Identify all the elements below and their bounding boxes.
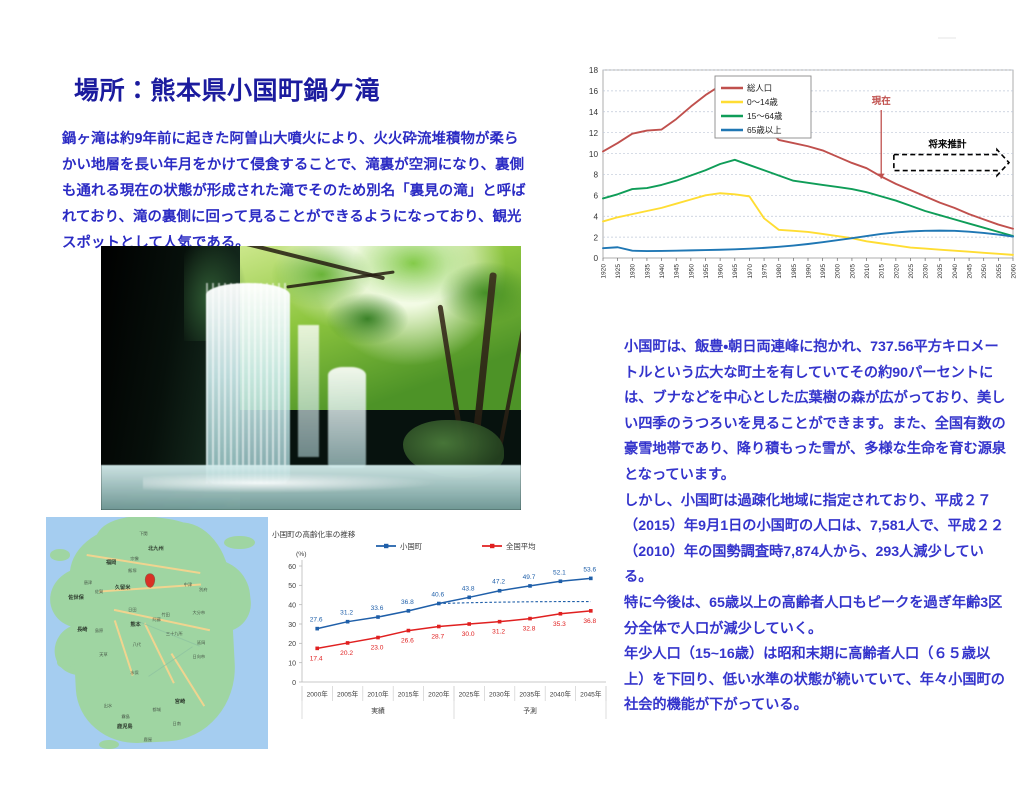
svg-text:2050: 2050 xyxy=(981,264,988,279)
svg-text:0: 0 xyxy=(593,254,598,263)
map-place-label: 天草 xyxy=(99,652,107,658)
svg-text:2020年: 2020年 xyxy=(428,690,450,699)
svg-text:2005年: 2005年 xyxy=(337,690,359,699)
svg-text:20.2: 20.2 xyxy=(340,650,353,657)
svg-text:1925: 1925 xyxy=(615,264,622,279)
svg-text:1990: 1990 xyxy=(805,264,812,279)
map-place-label: 久留米 xyxy=(115,584,131,591)
svg-text:1930: 1930 xyxy=(630,264,637,279)
svg-text:1995: 1995 xyxy=(820,264,827,279)
svg-text:40: 40 xyxy=(288,602,296,609)
aging-chart: 0102030405060(%)2000年2005年2010年2015年2020… xyxy=(268,524,614,740)
svg-text:31.2: 31.2 xyxy=(340,610,353,617)
svg-text:4: 4 xyxy=(593,212,598,221)
photo-waterfall-secondary xyxy=(328,367,366,467)
map-place-label: 日田 xyxy=(128,607,136,613)
population-chart: 0246810121416181920192519301935194019451… xyxy=(575,62,1018,310)
page-title: 場所：熊本県小国町鍋ケ滝 xyxy=(74,71,380,107)
intro-paragraph: 鍋ヶ滝は約9年前に起きた阿曽山大噴火により、火火砕流堆積物が柔らかい地層を長い年… xyxy=(62,126,532,256)
svg-text:12: 12 xyxy=(589,129,599,138)
map-place-label: 飯塚 xyxy=(128,568,136,574)
svg-text:2060: 2060 xyxy=(1010,264,1017,279)
svg-text:1975: 1975 xyxy=(761,264,768,279)
map-place-label: 北九州 xyxy=(148,545,164,552)
map-island xyxy=(50,549,70,561)
svg-text:2005: 2005 xyxy=(849,264,856,279)
svg-text:6: 6 xyxy=(593,192,598,201)
svg-text:現在: 現在 xyxy=(872,95,892,107)
svg-text:50: 50 xyxy=(288,583,296,590)
svg-text:2000年: 2000年 xyxy=(307,690,329,699)
svg-text:15〜64歳: 15〜64歳 xyxy=(747,111,783,121)
svg-text:52.1: 52.1 xyxy=(553,569,566,576)
svg-text:27.6: 27.6 xyxy=(310,617,323,624)
map-place-label: 中津 xyxy=(184,582,192,588)
svg-text:2025年: 2025年 xyxy=(459,690,481,699)
map-place-label: 下関 xyxy=(139,531,147,537)
map-place-label: 日南 xyxy=(173,721,181,727)
map-place-label: 長崎 xyxy=(77,626,87,633)
svg-text:35.3: 35.3 xyxy=(553,621,566,628)
svg-text:49.7: 49.7 xyxy=(523,574,536,581)
map-place-label: 出水 xyxy=(104,703,112,709)
map-place-label: 水俣 xyxy=(130,670,138,676)
svg-text:23.0: 23.0 xyxy=(371,645,384,652)
svg-text:2035年: 2035年 xyxy=(519,690,541,699)
svg-text:1980: 1980 xyxy=(776,264,783,279)
map-place-label: 熊本 xyxy=(130,621,140,628)
svg-text:18: 18 xyxy=(589,66,599,75)
svg-text:28.7: 28.7 xyxy=(431,634,444,641)
map-island xyxy=(99,740,119,749)
svg-text:1950: 1950 xyxy=(688,264,695,279)
map-island xyxy=(224,536,255,550)
svg-text:2035: 2035 xyxy=(937,264,944,279)
svg-text:2015: 2015 xyxy=(879,264,886,279)
svg-text:(%): (%) xyxy=(296,551,307,558)
svg-text:53.6: 53.6 xyxy=(583,566,596,573)
waterfall-photo xyxy=(101,246,521,510)
kyushu-map[interactable]: 北九州下関福岡宗像飯塚久留米佐世保唐津佐賀中津別府大分市日田竹田熊本長崎島原阿蘇… xyxy=(46,517,268,749)
region-paragraph: 特に今後は、65歳以上の高齢者人口もピークを過ぎ年齢3区分全体で人口が減少してい… xyxy=(624,591,1010,642)
svg-text:2055: 2055 xyxy=(996,264,1003,279)
svg-text:2025: 2025 xyxy=(908,264,915,279)
map-place-label: 佐賀 xyxy=(95,589,103,595)
svg-text:2040年: 2040年 xyxy=(550,690,572,699)
svg-text:1955: 1955 xyxy=(703,264,710,279)
svg-text:将来推計: 将来推計 xyxy=(927,139,967,151)
photo-waterfall-main xyxy=(206,283,290,484)
svg-text:33.6: 33.6 xyxy=(371,605,384,612)
svg-text:2015年: 2015年 xyxy=(398,690,420,699)
map-place-label: 島原 xyxy=(95,628,103,634)
svg-text:予測: 予測 xyxy=(523,706,537,715)
svg-text:2030: 2030 xyxy=(923,264,930,279)
map-place-label: 鹿屋 xyxy=(144,737,152,743)
svg-text:14: 14 xyxy=(589,108,599,117)
region-paragraph: しかし、小国町は過疎化地域に指定されており、平成２７（2015）年9月1日の小国… xyxy=(624,489,1010,591)
svg-text:1935: 1935 xyxy=(644,264,651,279)
map-place-label: 別府 xyxy=(199,587,207,593)
map-place-label: 阿蘇 xyxy=(153,617,161,623)
svg-text:実績: 実績 xyxy=(371,706,385,715)
svg-text:47.2: 47.2 xyxy=(492,579,505,586)
svg-text:総人口: 総人口 xyxy=(747,83,772,93)
map-place-label: 大分市 xyxy=(193,610,206,616)
svg-text:1960: 1960 xyxy=(718,264,725,279)
svg-text:10: 10 xyxy=(288,660,296,667)
svg-text:2030年: 2030年 xyxy=(489,690,511,699)
svg-text:2000: 2000 xyxy=(835,264,842,279)
region-paragraph: 小国町は、飯豊・朝日両連峰に抱かれ、737.56平方キロメートルという広大な町土… xyxy=(624,335,1010,489)
svg-text:17.4: 17.4 xyxy=(310,655,323,662)
svg-text:40.6: 40.6 xyxy=(431,592,444,599)
map-island xyxy=(57,656,73,668)
map-place-label: 霧島 xyxy=(121,714,129,720)
svg-text:0〜14歳: 0〜14歳 xyxy=(747,97,778,107)
map-place-label: 三十九所 xyxy=(166,631,183,637)
svg-text:31.2: 31.2 xyxy=(492,629,505,636)
svg-text:36.8: 36.8 xyxy=(401,599,414,606)
svg-text:1965: 1965 xyxy=(732,264,739,279)
region-description: 小国町は、飯豊・朝日両連峰に抱かれ、737.56平方キロメートルという広大な町土… xyxy=(624,335,1010,719)
map-place-label: 福岡 xyxy=(106,559,116,566)
svg-text:全国平均: 全国平均 xyxy=(506,542,536,551)
svg-text:小国町: 小国町 xyxy=(400,542,423,551)
svg-text:2045年: 2045年 xyxy=(580,690,602,699)
map-place-label: 都城 xyxy=(153,707,161,713)
svg-text:65歳以上: 65歳以上 xyxy=(747,125,781,135)
svg-text:1985: 1985 xyxy=(791,264,798,279)
region-paragraph: 年少人口（15~16歳）は昭和末期に高齢者人口（６５歳以上）を下回り、低い水準の… xyxy=(624,642,1010,719)
svg-text:2045: 2045 xyxy=(966,264,973,279)
svg-text:43.8: 43.8 xyxy=(462,585,475,592)
slide-canvas: 場所：熊本県小国町鍋ケ滝 鍋ヶ滝は約9年前に起きた阿曽山大噴火により、火火砕流堆… xyxy=(0,0,1024,807)
map-place-label: 佐世保 xyxy=(68,594,84,601)
map-place-label: 延岡 xyxy=(197,640,205,646)
map-place-label: 宗像 xyxy=(130,556,138,562)
map-place-label: 八代 xyxy=(133,642,141,648)
svg-text:20: 20 xyxy=(288,641,296,648)
svg-text:16: 16 xyxy=(589,87,599,96)
svg-text:30: 30 xyxy=(288,622,296,629)
svg-text:36.8: 36.8 xyxy=(583,618,596,625)
photo-pool xyxy=(101,465,521,510)
svg-text:2040: 2040 xyxy=(952,264,959,279)
svg-text:0: 0 xyxy=(292,680,296,687)
map-place-label: 鹿児島 xyxy=(117,723,133,730)
svg-text:2: 2 xyxy=(593,233,598,242)
scan-artifact xyxy=(938,37,956,39)
svg-text:1945: 1945 xyxy=(674,264,681,279)
svg-text:8: 8 xyxy=(593,171,598,180)
svg-text:1940: 1940 xyxy=(659,264,666,279)
svg-text:2020: 2020 xyxy=(893,264,900,279)
svg-text:32.8: 32.8 xyxy=(523,626,536,633)
svg-text:2010年: 2010年 xyxy=(367,690,389,699)
svg-text:10: 10 xyxy=(589,150,599,159)
map-place-label: 竹田 xyxy=(161,612,169,618)
svg-text:60: 60 xyxy=(288,564,296,571)
svg-text:1970: 1970 xyxy=(747,264,754,279)
map-place-label: 日向市 xyxy=(193,654,206,660)
map-place-label: 唐津 xyxy=(84,580,92,586)
svg-text:1920: 1920 xyxy=(600,264,607,279)
svg-text:2010: 2010 xyxy=(864,264,871,279)
map-place-label: 宮崎 xyxy=(175,698,185,705)
svg-text:26.6: 26.6 xyxy=(401,638,414,645)
photo-waterfall-secondary xyxy=(298,325,319,457)
svg-text:30.0: 30.0 xyxy=(462,631,475,638)
